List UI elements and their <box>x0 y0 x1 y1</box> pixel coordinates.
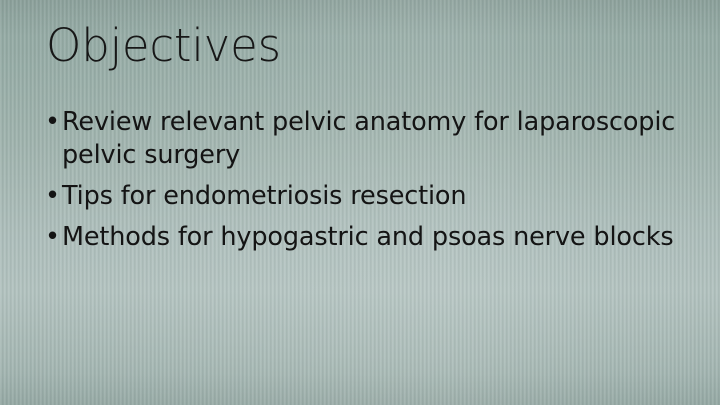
bullet-item-text: Methods for hypogastric and psoas nerve … <box>62 222 673 252</box>
slide-title: Objectives <box>46 21 281 71</box>
bullet-item: • Review relevant pelvic anatomy for lap… <box>45 106 685 172</box>
bullet-point-icon: • <box>45 106 60 139</box>
bullet-item: • Tips for endometriosis resection <box>45 180 685 213</box>
slide-content: Objectives • Review relevant pelvic anat… <box>0 0 720 405</box>
bullet-item-text: Review relevant pelvic anatomy for lapar… <box>62 107 675 170</box>
bullet-list: • Review relevant pelvic anatomy for lap… <box>45 106 685 263</box>
bullet-point-icon: • <box>45 180 60 213</box>
presentation-slide: Objectives • Review relevant pelvic anat… <box>0 0 720 405</box>
bullet-item: • Methods for hypogastric and psoas nerv… <box>45 221 685 254</box>
bullet-point-icon: • <box>45 221 60 254</box>
bullet-item-text: Tips for endometriosis resection <box>62 181 466 211</box>
